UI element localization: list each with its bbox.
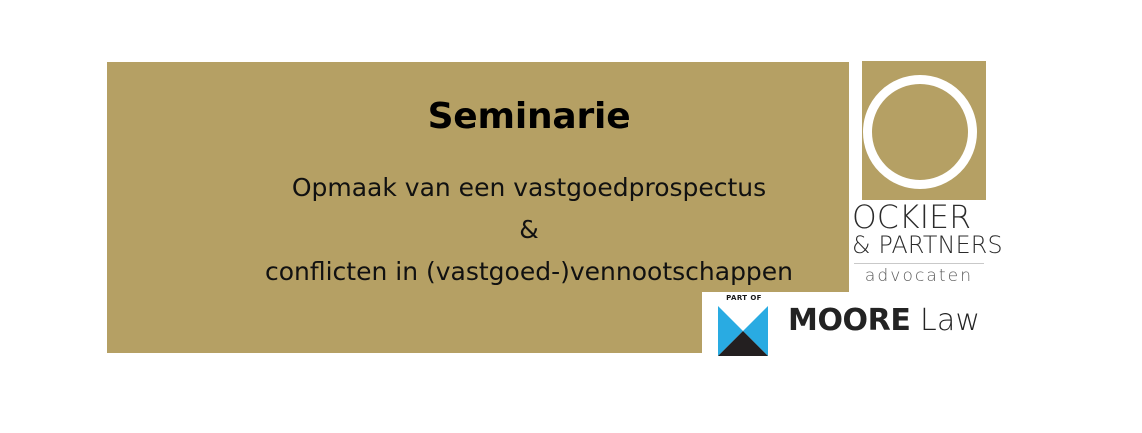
moore-law-logo: PART OF MOORE Law <box>702 292 986 358</box>
ockier-left-sliver-icon <box>858 61 862 200</box>
ockier-name-line-1: OCKIER <box>852 202 983 232</box>
part-of-label: PART OF <box>716 294 772 302</box>
moore-m-mark-icon <box>718 306 768 356</box>
moore-mark-wrapper: PART OF <box>716 294 772 356</box>
ockier-partners-logo: OCKIER & PARTNERS advocaten <box>849 61 986 292</box>
seminar-subtitle-line-1: Opmaak van een vastgoedprospectus <box>107 173 951 202</box>
ockier-divider <box>854 263 984 264</box>
moore-name-bold: MOORE <box>788 303 910 338</box>
seminar-subtitle-line-2: & <box>107 215 951 244</box>
moore-wordmark: MOORE Law <box>788 304 980 338</box>
moore-name-light: Law <box>920 303 980 338</box>
ockier-tagline: advocaten <box>852 267 986 286</box>
ockier-name-line-2: & PARTNERS <box>852 232 985 259</box>
ockier-circle-ring-icon <box>863 75 977 189</box>
ockier-wordmark: OCKIER & PARTNERS advocaten <box>852 202 986 286</box>
seminar-subtitle-line-3: conflicten in (vastgoed-)vennootschappen <box>107 257 951 286</box>
page-title: Seminarie <box>107 96 951 137</box>
